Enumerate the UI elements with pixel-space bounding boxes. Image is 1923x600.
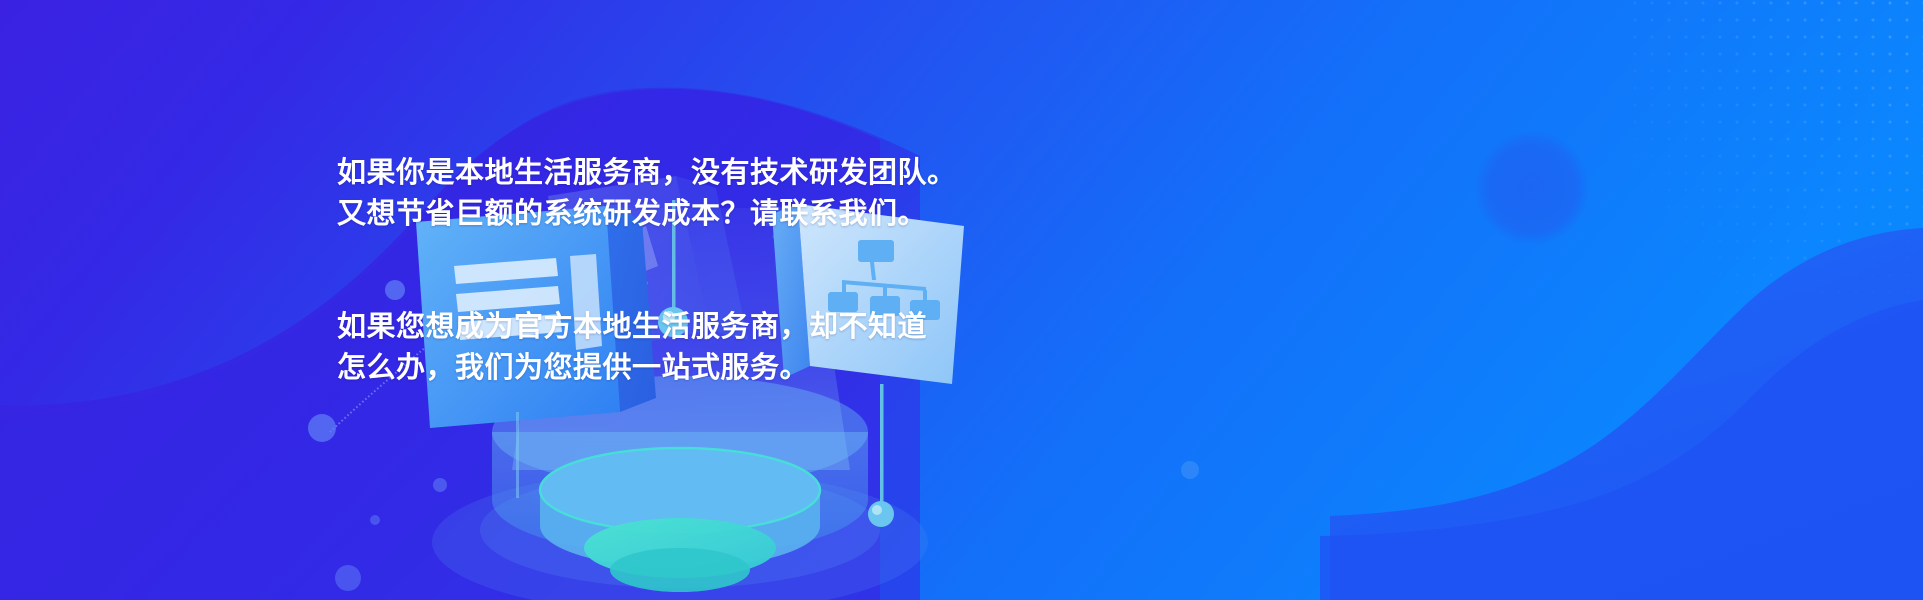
paragraph-one: 如果你是本地生活服务商，没有技术研发团队。 又想节省巨额的系统研发成本？请联系我… <box>337 153 1157 235</box>
wave-shape-right <box>1330 228 1923 600</box>
dot-circle-right-low <box>1181 461 1199 479</box>
dot-circle-arc-end <box>308 414 336 442</box>
dot-circle-tiny <box>370 515 380 525</box>
hero-banner: 如果你是本地生活服务商，没有技术研发团队。 又想节省巨额的系统研发成本？请联系我… <box>0 0 1923 600</box>
soft-circle-right <box>1474 130 1590 246</box>
card-stem <box>516 412 519 498</box>
dot-grid-pattern <box>1620 0 1923 300</box>
dot-node-icon <box>868 501 894 527</box>
wave-shape-right-lower <box>1320 300 1923 600</box>
dot-circle-bottom <box>335 565 361 591</box>
paragraph-two: 如果您想成为官方本地生活服务商，却不知道 怎么办，我们为您提供一站式服务。 <box>337 307 1157 389</box>
banner-copy: 如果你是本地生活服务商，没有技术研发团队。 又想节省巨额的系统研发成本？请联系我… <box>337 124 1157 418</box>
